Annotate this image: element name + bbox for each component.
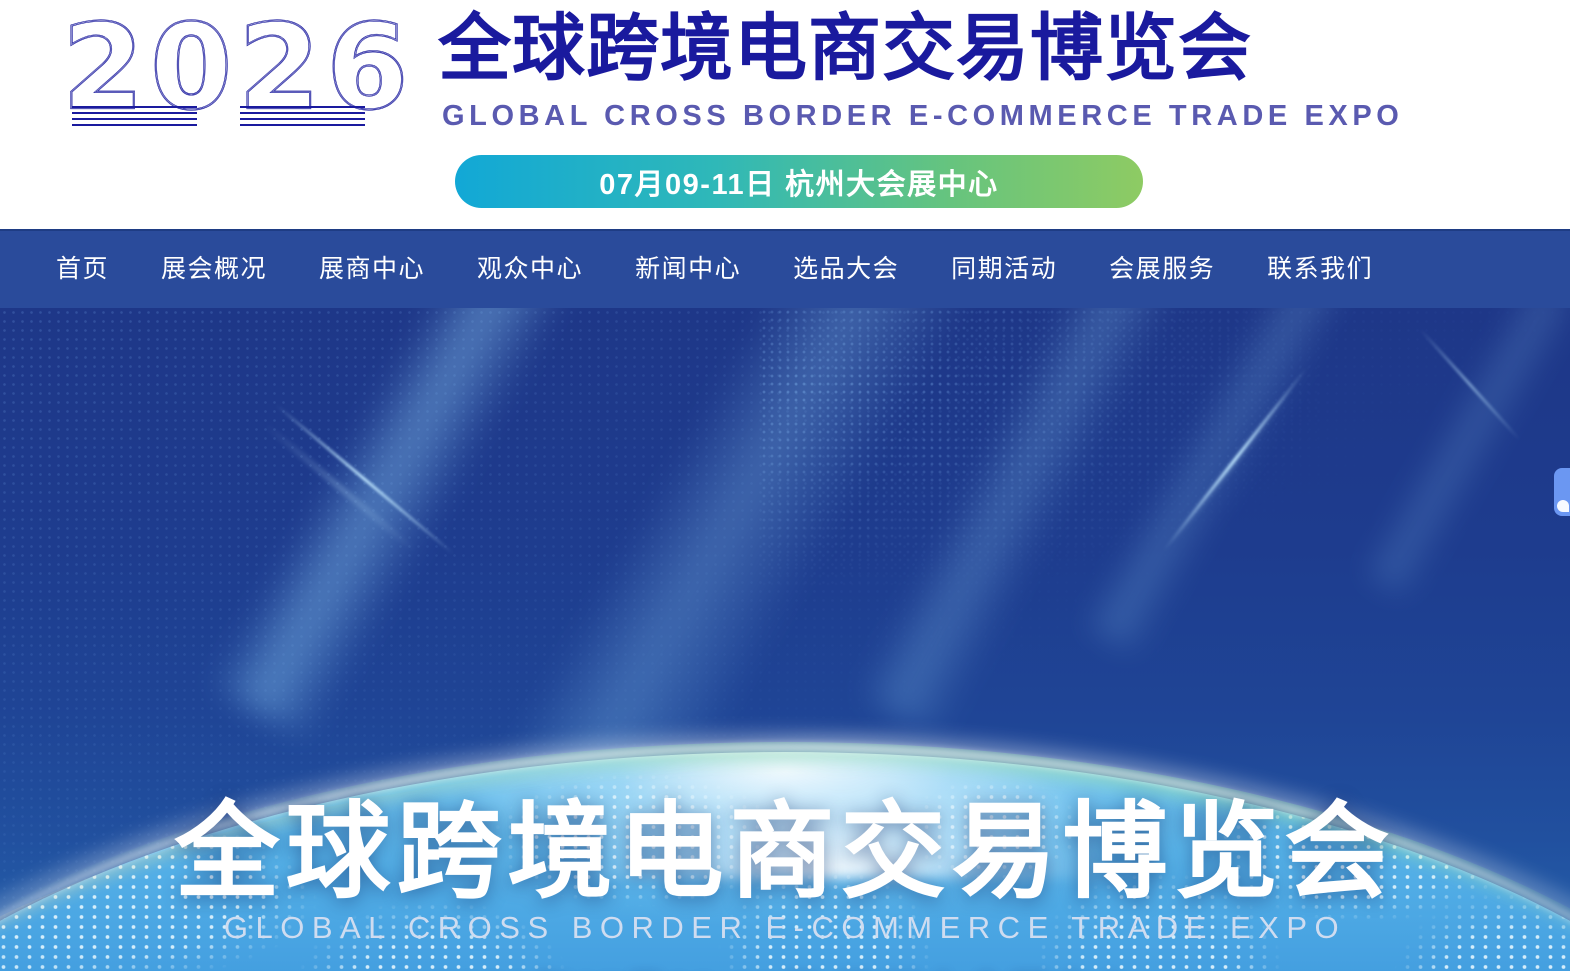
nav-item-contact[interactable]: 联系我们 — [1241, 230, 1399, 309]
hero-banner: 全球跨境电商交易博览会 GLOBAL CROSS BORDER E-COMMER… — [0, 308, 1570, 971]
nav-item-activities[interactable]: 同期活动 — [925, 230, 1083, 309]
nav-item-selection[interactable]: 选品大会 — [767, 230, 925, 309]
header-date-badge: 07月09-11日 杭州大会展中心 — [455, 155, 1143, 208]
nav-item-overview[interactable]: 展会概况 — [135, 230, 293, 309]
nav-item-services[interactable]: 会展服务 — [1083, 230, 1241, 309]
halftone-texture-right — [760, 308, 1320, 588]
globe-surface — [0, 752, 1570, 971]
nav-item-news[interactable]: 新闻中心 — [609, 230, 767, 309]
side-panel-toggle[interactable] — [1554, 468, 1570, 516]
year-logo-rules — [72, 104, 422, 126]
header-title-en: GLOBAL CROSS BORDER E-COMMERCE TRADE EXP… — [442, 100, 1403, 133]
header-title-cn: 全球跨境电商交易博览会 — [438, 10, 1252, 89]
nav-item-exhibitors[interactable]: 展商中心 — [293, 230, 451, 309]
header-date-badge-label: 07月09-11日 杭州大会展中心 — [599, 161, 998, 203]
main-navigation: 首页 展会概况 展商中心 观众中心 新闻中心 选品大会 同期活动 会展服务 联系… — [0, 229, 1570, 308]
site-header: 2026 2026 2026 全球跨境电商交易博览会 GLOBAL CROSS … — [0, 0, 1570, 229]
nav-item-visitors[interactable]: 观众中心 — [451, 230, 609, 309]
page-root: 2026 2026 2026 全球跨境电商交易博览会 GLOBAL CROSS … — [0, 0, 1570, 971]
nav-item-home[interactable]: 首页 — [30, 230, 135, 309]
globe-dot-continents — [0, 752, 1570, 971]
chat-bubble-icon — [1557, 500, 1569, 512]
